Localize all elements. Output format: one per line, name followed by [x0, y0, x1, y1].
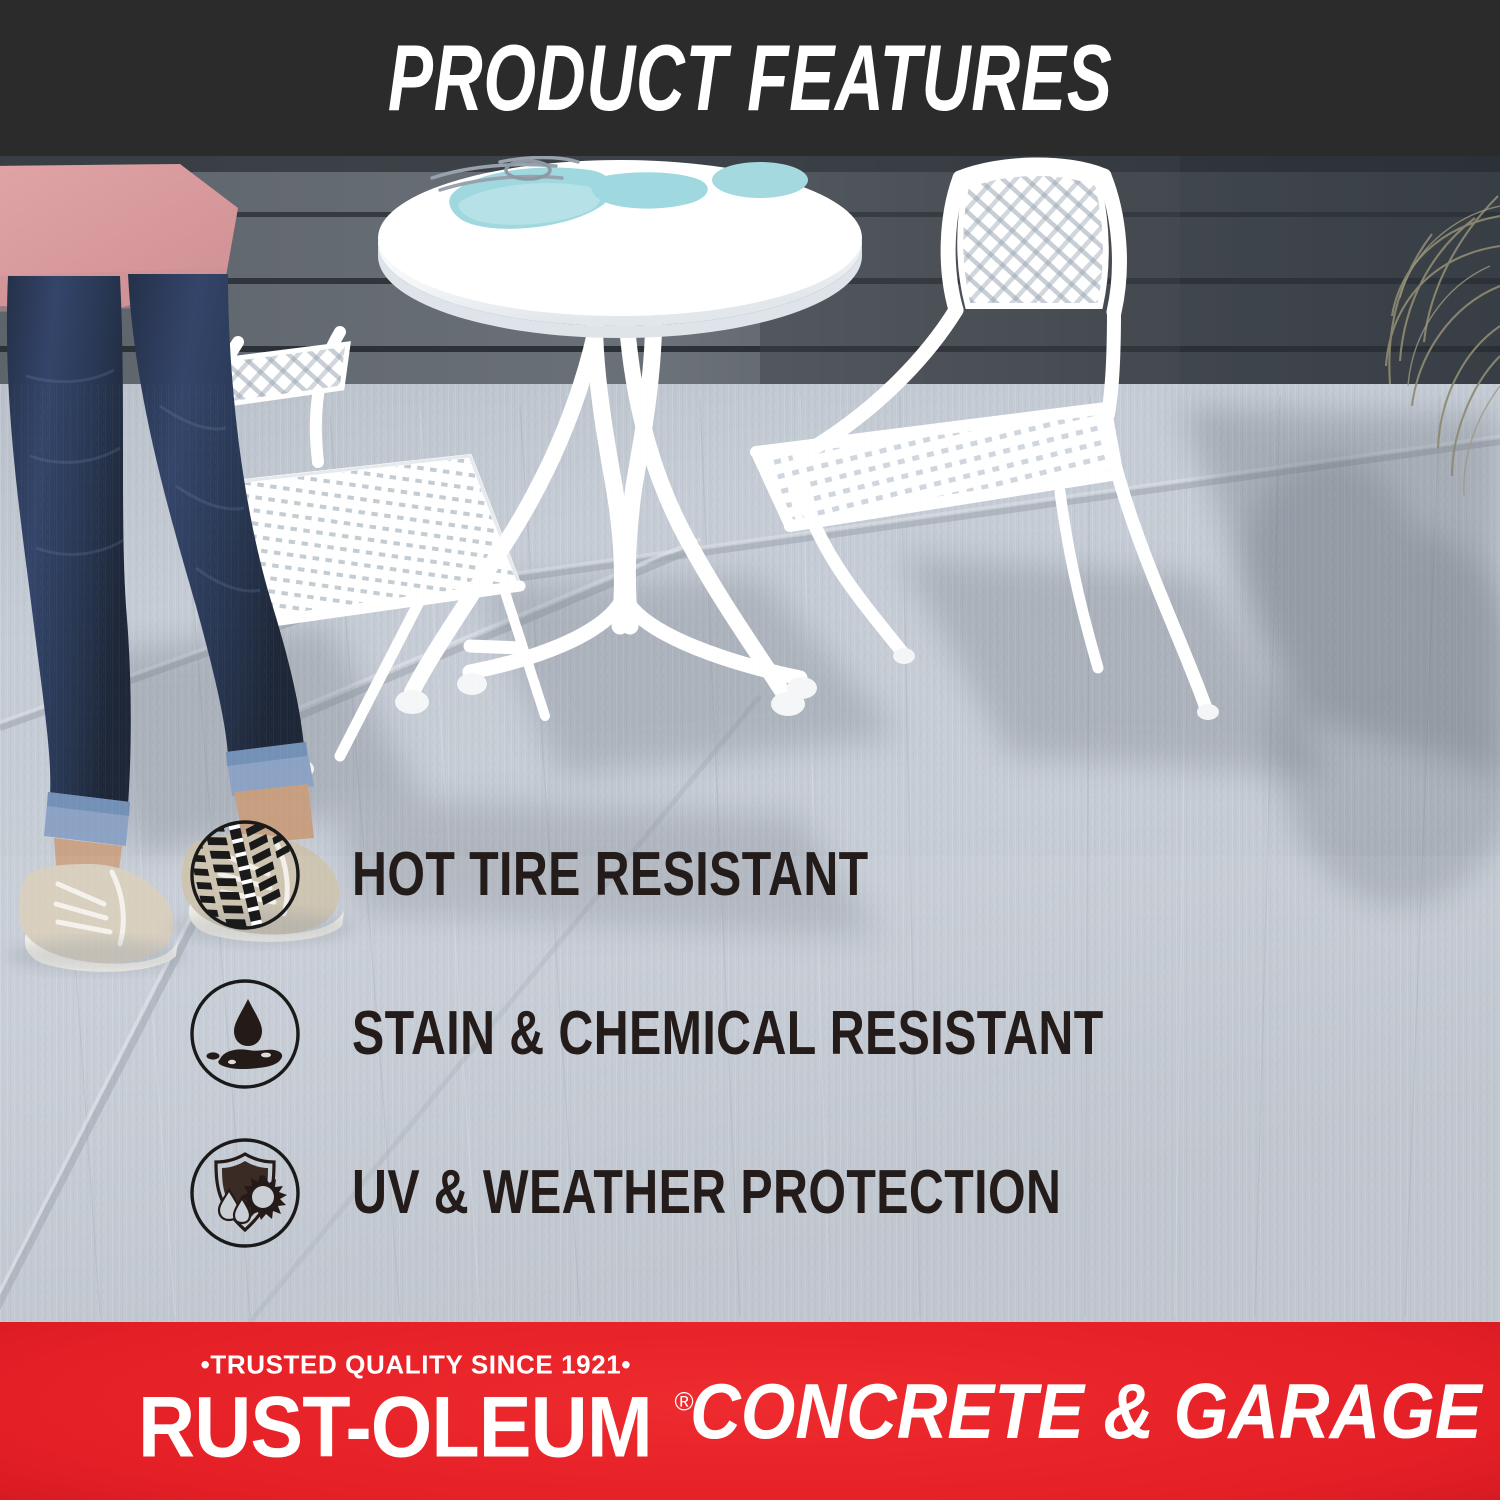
tire-tread-icon	[186, 816, 304, 934]
product-category: CONCRETE & GARAGE	[690, 1372, 1500, 1450]
tagline-text: TRUSTED QUALITY SINCE 1921	[210, 1350, 621, 1380]
tagline-trail-dot: •	[621, 1350, 631, 1380]
feature-label: HOT TIRE RESISTANT	[352, 844, 869, 906]
rustoleum-logo: •TRUSTED QUALITY SINCE 1921• RUST-OLEUM …	[138, 1352, 694, 1471]
brand-bar: •TRUSTED QUALITY SINCE 1921• RUST-OLEUM …	[0, 1322, 1500, 1500]
feature-label: UV & WEATHER PROTECTION	[352, 1162, 1061, 1224]
header-bar: PRODUCT FEATURES	[0, 0, 1500, 156]
product-lifestyle-photo: HOT TIRE RESISTANT	[0, 156, 1500, 1322]
product-feature-graphic: PRODUCT FEATURES	[0, 0, 1500, 1500]
feature-item-stain-chemical: STAIN & CHEMICAL RESISTANT	[186, 975, 1286, 1093]
page-title: PRODUCT FEATURES	[388, 31, 1113, 125]
product-category-label: CONCRETE & GARAGE	[690, 1372, 1482, 1450]
brand-tagline: •TRUSTED QUALITY SINCE 1921•	[201, 1352, 631, 1378]
feature-label: STAIN & CHEMICAL RESISTANT	[352, 1003, 1104, 1065]
brand-name: RUST-OLEUM	[138, 1385, 652, 1471]
feature-list: HOT TIRE RESISTANT	[186, 816, 1286, 1252]
feature-item-uv-weather: UV & WEATHER PROTECTION	[186, 1134, 1286, 1252]
oil-droplet-spill-icon	[186, 975, 304, 1093]
tagline-lead-dot: •	[201, 1350, 211, 1380]
shield-sun-droplet-icon	[186, 1134, 304, 1252]
brand-wordmark: RUST-OLEUM ®	[138, 1385, 694, 1471]
feature-item-hot-tire: HOT TIRE RESISTANT	[186, 816, 1286, 934]
